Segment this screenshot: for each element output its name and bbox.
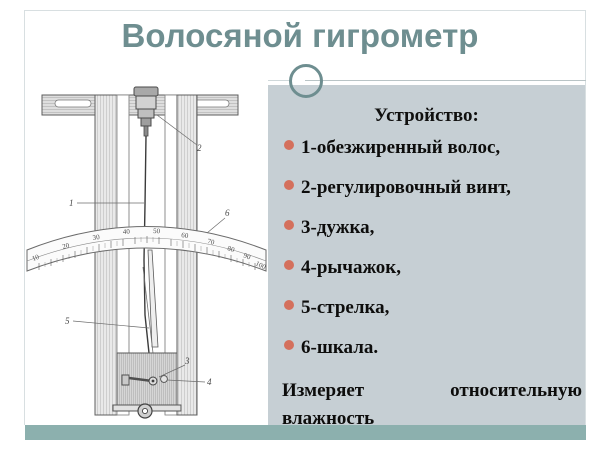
content-panel: Устройство: 1-обезжиренный волос, 2-регу… (268, 85, 585, 425)
svg-text:40: 40 (123, 227, 131, 236)
frame-line-right (585, 10, 586, 425)
list-item-label: 5-стрелка, (301, 297, 389, 319)
list-item: 2-регулировочный винт, (284, 177, 584, 217)
svg-text:1: 1 (69, 198, 74, 208)
panel-heading: Устройство: (268, 105, 585, 127)
hygrometer-diagram: 1 2 (25, 85, 268, 423)
list-item: 3-дужка, (284, 217, 584, 257)
list-item: 1-обезжиренный волос, (284, 137, 584, 177)
svg-text:4: 4 (207, 377, 212, 387)
bullet-dot-icon (284, 260, 294, 270)
list-item-label: 4-рычажок, (301, 257, 401, 279)
svg-text:3: 3 (184, 356, 190, 366)
title-rule (305, 80, 586, 81)
bullet-dot-icon (284, 220, 294, 230)
list-item: 6-шкала. (284, 337, 584, 377)
bullet-dot-icon (284, 300, 294, 310)
list-item-label: 2-регулировочный винт, (301, 177, 511, 199)
list-item: 5-стрелка, (284, 297, 584, 337)
list-item-label: 1-обезжиренный волос, (301, 137, 500, 159)
title-rule-stub (268, 80, 290, 81)
ring-decoration-icon (289, 64, 323, 98)
bullet-dot-icon (284, 180, 294, 190)
list-item-label: 6-шкала. (301, 337, 378, 359)
hygrometer-diagram-svg: 1 2 (25, 85, 268, 423)
accent-bar (25, 425, 586, 440)
svg-text:2: 2 (197, 143, 202, 153)
page-title: Волосяной гигрометр (60, 16, 540, 56)
frame-line-top (24, 10, 586, 11)
slide-canvas: Волосяной гигрометр Устройство: 1-обезжи… (0, 0, 600, 450)
list-item-label: 3-дужка, (301, 217, 374, 239)
parts-list: 1-обезжиренный волос, 2-регулировочный в… (284, 137, 584, 377)
svg-text:5: 5 (65, 316, 70, 326)
list-item: 4-рычажок, (284, 257, 584, 297)
summary-line-1: Измеряет относительную (282, 377, 582, 405)
bullet-dot-icon (284, 140, 294, 150)
bullet-dot-icon (284, 340, 294, 350)
svg-text:50: 50 (153, 227, 161, 235)
svg-text:6: 6 (225, 208, 230, 218)
